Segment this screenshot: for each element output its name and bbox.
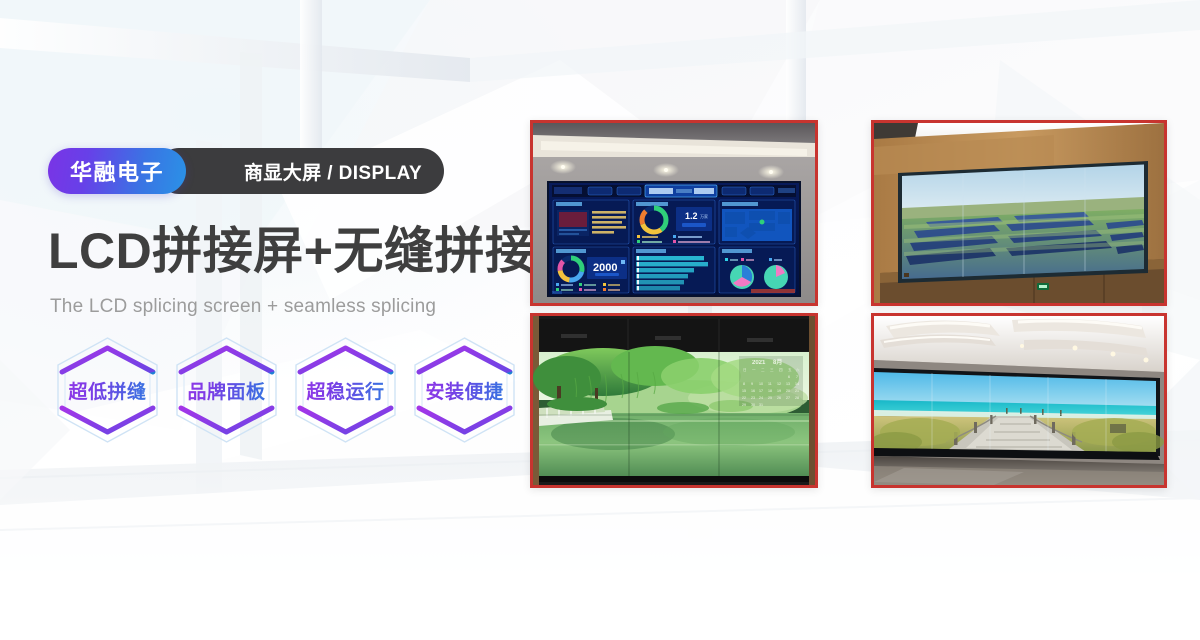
svg-text:7: 7 xyxy=(796,375,798,379)
svg-text:2021: 2021 xyxy=(752,360,766,366)
svg-text:四: 四 xyxy=(779,368,783,372)
svg-text:二: 二 xyxy=(761,368,765,372)
svg-text:8月: 8月 xyxy=(773,358,782,366)
photo-lobby-beach-video-wall[interactable] xyxy=(871,313,1167,488)
photo-control-room-dashboard[interactable]: 1.2 万家 2000 xyxy=(530,120,818,306)
svg-text:13: 13 xyxy=(786,382,790,386)
svg-text:23: 23 xyxy=(751,396,755,400)
feature-hexagon-4: 安装便捷 xyxy=(405,332,524,448)
svg-text:26: 26 xyxy=(777,396,781,400)
svg-text:22: 22 xyxy=(742,396,746,400)
photo-control-room-dashboard-image: 1.2 万家 2000 xyxy=(533,123,815,303)
photo-lobby-beach-video-wall-image xyxy=(874,316,1164,485)
svg-text:6: 6 xyxy=(788,375,790,379)
feature-hexagon-3: 超稳运行 xyxy=(286,332,405,448)
svg-text:三: 三 xyxy=(770,368,774,372)
svg-text:日: 日 xyxy=(743,368,747,372)
svg-text:六: 六 xyxy=(796,367,800,372)
svg-text:15: 15 xyxy=(742,389,746,393)
svg-text:12: 12 xyxy=(777,382,781,386)
feature-label-2: 品牌面板 xyxy=(167,332,286,448)
feature-hexagon-2: 品牌面板 xyxy=(167,332,286,448)
svg-text:2000: 2000 xyxy=(593,262,617,274)
feature-label-1: 超低拼缝 xyxy=(48,332,167,448)
svg-text:11: 11 xyxy=(768,382,772,386)
svg-text:16: 16 xyxy=(751,389,755,393)
page-title: LCD拼接屏+无缝拼接 xyxy=(48,226,535,276)
svg-text:14: 14 xyxy=(795,382,799,386)
svg-text:24: 24 xyxy=(759,396,763,400)
svg-text:21: 21 xyxy=(795,389,799,393)
svg-text:17: 17 xyxy=(759,389,763,393)
svg-text:1.2: 1.2 xyxy=(685,211,698,221)
svg-text:一: 一 xyxy=(752,368,756,372)
feature-label-3: 超稳运行 xyxy=(286,332,405,448)
photo-willow-lake-video-wall[interactable]: 2021 8月 日一二 三四五六 67 8910 11121314 151617… xyxy=(530,313,818,488)
svg-text:8: 8 xyxy=(743,382,745,386)
page-subtitle: The LCD splicing screen + seamless splic… xyxy=(50,296,436,318)
svg-text:29: 29 xyxy=(742,403,746,407)
feature-hexagon-1: 超低拼缝 xyxy=(48,332,167,448)
svg-text:25: 25 xyxy=(768,396,772,400)
svg-text:9: 9 xyxy=(751,382,753,386)
photo-willow-lake-video-wall-image: 2021 8月 日一二 三四五六 67 8910 11121314 151617… xyxy=(533,316,815,485)
svg-text:五: 五 xyxy=(788,368,792,372)
brand-pill-label: 华融电子 xyxy=(70,155,164,187)
feature-label-4: 安装便捷 xyxy=(405,332,524,448)
svg-text:19: 19 xyxy=(777,389,781,393)
category-pill: 商显大屏 / DISPLAY xyxy=(156,148,444,194)
svg-text:20: 20 xyxy=(786,389,790,393)
svg-text:万家: 万家 xyxy=(700,213,708,219)
product-banner: 商显大屏 / DISPLAY 华融电子 LCD拼接屏+无缝拼接 The LCD … xyxy=(0,0,1200,640)
svg-text:10: 10 xyxy=(759,382,763,386)
svg-text:27: 27 xyxy=(786,396,790,400)
svg-text:31: 31 xyxy=(759,403,763,407)
svg-text:30: 30 xyxy=(751,403,755,407)
svg-text:18: 18 xyxy=(768,389,772,393)
photo-corridor-solar-video-wall[interactable] xyxy=(871,120,1167,306)
brand-pill: 华融电子 xyxy=(48,148,186,194)
feature-hexagon-row: 超低拼缝 品牌面板 xyxy=(48,332,524,448)
headline-column: 商显大屏 / DISPLAY 华融电子 LCD拼接屏+无缝拼接 The LCD … xyxy=(48,0,548,640)
svg-text:28: 28 xyxy=(795,396,799,400)
photo-corridor-solar-video-wall-image xyxy=(874,123,1164,303)
category-pill-label: 商显大屏 / DISPLAY xyxy=(244,158,422,185)
